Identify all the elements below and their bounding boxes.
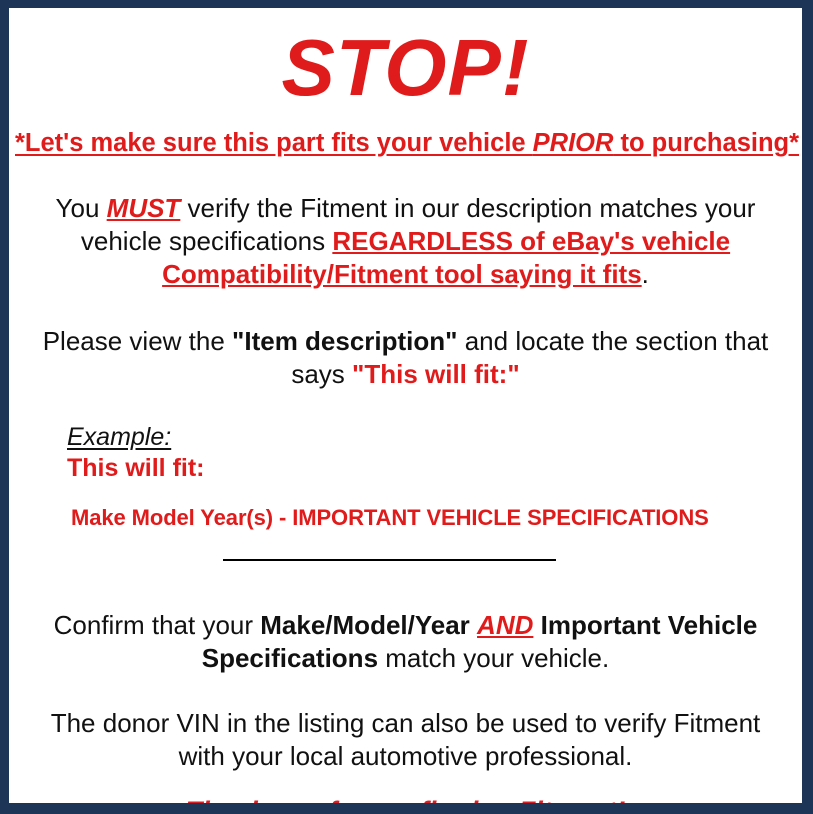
this-will-fit-emphasis: "This will fit:": [352, 359, 520, 389]
example-label: Example:: [67, 423, 171, 451]
example-block: Example: This will fit: Make Model Year(…: [9, 391, 802, 531]
tagline-after: to purchasing*: [613, 129, 799, 157]
example-spec-line: Make Model Year(s) - IMPORTANT VEHICLE S…: [67, 483, 802, 531]
view-text-part1: Please view the: [43, 326, 232, 356]
confirm-text-part1: Confirm that your: [54, 610, 261, 640]
must-text-part3: .: [642, 259, 649, 289]
tagline-prior-emphasis: PRIOR: [533, 129, 614, 157]
fitment-notice-card: STOP! *Let's make sure this part fits yo…: [0, 0, 813, 814]
item-description-emphasis: "Item description": [232, 326, 457, 356]
must-emphasis: MUST: [107, 193, 181, 223]
thank-you-line: Thank you for confirming Fitment!: [9, 773, 802, 803]
paragraph-donor-vin: The donor VIN in the listing can also be…: [9, 675, 802, 773]
tagline: *Let's make sure this part fits your veh…: [9, 114, 802, 158]
paragraph-view-description: Please view the "Item description" and l…: [9, 291, 802, 391]
paragraph-confirm: Confirm that your Make/Model/Year AND Im…: [9, 579, 802, 675]
paragraph-must-verify: You MUST verify the Fitment in our descr…: [9, 158, 802, 291]
divider-wrap: [9, 531, 802, 579]
confirm-text-part2: match your vehicle.: [378, 643, 609, 673]
must-text-part1: You: [56, 193, 107, 223]
make-model-year-emphasis: Make/Model/Year: [260, 610, 470, 640]
fitment-notice-body: STOP! *Let's make sure this part fits yo…: [9, 8, 802, 803]
example-fit-heading: This will fit:: [67, 451, 802, 483]
tagline-before: *Let's make sure this part fits your veh…: [15, 129, 533, 157]
example-label-row: Example:: [67, 423, 802, 451]
and-emphasis: AND: [477, 610, 533, 640]
stop-heading: STOP!: [9, 8, 802, 114]
section-divider: [223, 559, 556, 561]
